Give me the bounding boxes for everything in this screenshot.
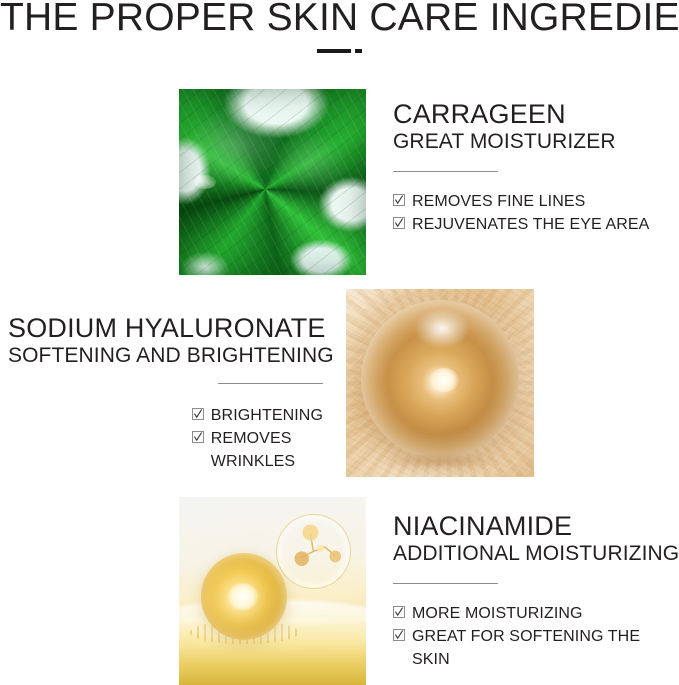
list-item: BRIGHTENING (192, 404, 323, 427)
list-item-label: REMOVES FINE LINES (412, 190, 585, 213)
checkbox-icon (393, 217, 405, 229)
amber-sphere-photo (346, 289, 534, 477)
molecule-bubble (276, 514, 351, 589)
carrageen-subheading: GREAT MOISTURIZER (393, 129, 673, 155)
checkbox-icon (192, 408, 204, 420)
list-item-label: REMOVES WRINKLES (211, 427, 319, 473)
checkbox-icon (192, 431, 204, 443)
list-item: REMOVES WRINKLES (192, 427, 323, 473)
sodium-hyaluronate-subheading: SOFTENING AND BRIGHTENING (8, 343, 323, 369)
golden-oil-sphere-core-glow (228, 583, 258, 609)
sodium-hyaluronate-benefit-list: BRIGHTENING REMOVES WRINKLES (192, 404, 323, 473)
niacinamide-benefit-list: MORE MOISTURIZING GREAT FOR SOFTENING TH… (393, 602, 675, 671)
green-leaves-photo (179, 89, 366, 275)
amber-sphere-highlight (414, 308, 470, 349)
niacinamide-divider (393, 583, 498, 584)
checkbox-icon (393, 606, 405, 618)
carrageen-benefit-list: REMOVES FINE LINES REJUVENATES THE EYE A… (393, 190, 673, 236)
sodium-hyaluronate-copy: SODIUM HYALURONATE SOFTENING AND BRIGHTE… (8, 313, 323, 473)
water-droplets (194, 175, 216, 189)
niacinamide-copy: NIACINAMIDE ADDITIONAL MOISTURIZING MORE… (393, 511, 675, 671)
niacinamide-subheading: ADDITIONAL MOISTURIZING (393, 541, 675, 567)
title-divider (0, 42, 679, 56)
carrageen-divider (393, 171, 498, 172)
list-item: GREAT FOR SOFTENING THE SKIN (393, 625, 675, 671)
list-item-label: GREAT FOR SOFTENING THE SKIN (412, 625, 675, 671)
sodium-hyaluronate-divider (218, 383, 323, 384)
molecule-diagram (277, 515, 350, 588)
niacinamide-heading: NIACINAMIDE (393, 511, 675, 541)
sodium-hyaluronate-heading: SODIUM HYALURONATE (8, 313, 323, 343)
title-divider-bar (317, 49, 351, 53)
checkbox-icon (393, 629, 405, 641)
carrageen-heading: CARRAGEEN (393, 99, 673, 129)
title-divider-dot (355, 49, 362, 53)
list-item: REMOVES FINE LINES (393, 190, 673, 213)
checkbox-icon (393, 194, 405, 206)
golden-oil-drop-photo (179, 497, 366, 685)
list-item: REJUVENATES THE EYE AREA (393, 213, 673, 236)
list-item-label: REJUVENATES THE EYE AREA (412, 213, 649, 236)
page-title: THE PROPER SKIN CARE INGREDIENTS (0, 0, 679, 40)
list-item: MORE MOISTURIZING (393, 602, 675, 625)
list-item-label: BRIGHTENING (211, 404, 323, 427)
list-item-label: MORE MOISTURIZING (412, 602, 583, 625)
carrageen-copy: CARRAGEEN GREAT MOISTURIZER REMOVES FINE… (393, 99, 673, 236)
amber-sphere-core-glow (429, 368, 459, 392)
